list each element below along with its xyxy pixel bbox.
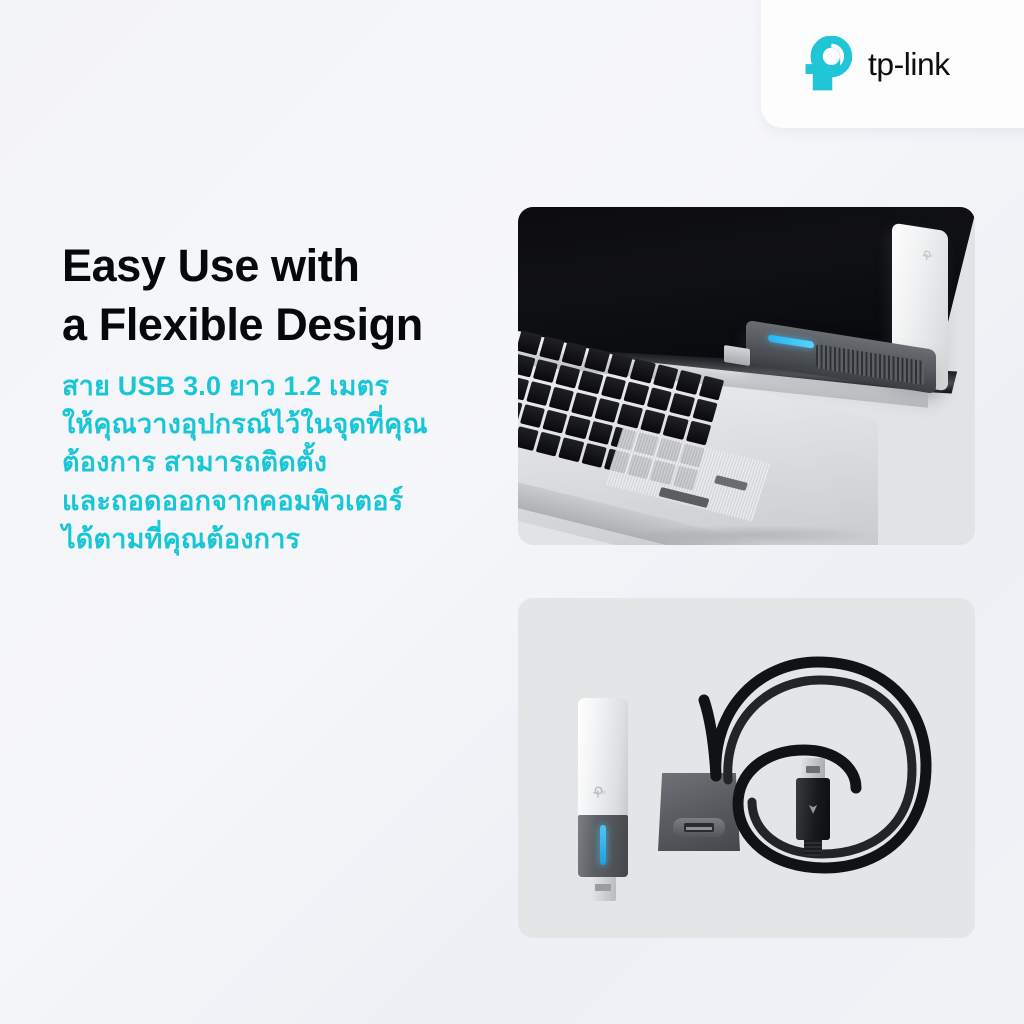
logo-row: tp-link [801, 36, 1004, 94]
svg-text:tp-link: tp-link [868, 46, 950, 82]
laptop-shadow [628, 525, 878, 545]
copy-block: Easy Use with a Flexible Design สาย USB … [62, 236, 502, 558]
page-title: Easy Use with a Flexible Design [62, 236, 502, 355]
tp-link-logo-icon: tp [593, 786, 613, 799]
usb-plug-housing [796, 778, 830, 840]
accessories-scene: tp [518, 598, 975, 938]
svg-text:tp: tp [602, 790, 606, 795]
body-line-4: และถอดออกจากคอมพิวเตอร์ [62, 482, 502, 520]
usb-wifi-adapter: tp [578, 698, 628, 901]
product-shot-laptop: tp [518, 207, 975, 545]
adapter-lower-shell [578, 815, 628, 877]
adapter-vent-grille [816, 344, 924, 385]
tp-link-logo-icon: tp [922, 249, 938, 263]
product-shot-accessories: tp [518, 598, 975, 938]
body-line-3: ต้องการ สามารถติดตั้ง [62, 443, 502, 481]
svg-text:tp: tp [930, 254, 933, 258]
body-line-2: ให้คุณวางอุปกรณ์ไว้ในจุดที่คุณ [62, 405, 502, 443]
headline-line-1: Easy Use with [62, 236, 502, 295]
usb-plug-metal-tip [801, 758, 825, 778]
adapter-blue-led [600, 825, 606, 865]
usb-wifi-adapter-plugged: tp [746, 335, 936, 379]
usb-a-male-plug [796, 758, 830, 856]
adapter-blue-led [768, 334, 814, 348]
usb-plug-strain-relief [804, 840, 822, 856]
adapter-upper-shell: tp [578, 698, 628, 816]
tp-link-logo-icon [801, 36, 859, 94]
adapter-usb-plug [590, 877, 616, 901]
body-copy: สาย USB 3.0 ยาว 1.2 เมตร ให้คุณวางอุปกรณ… [62, 367, 502, 559]
tp-link-wordmark: tp-link [868, 45, 1004, 85]
headline-line-2: a Flexible Design [62, 295, 502, 354]
body-line-1: สาย USB 3.0 ยาว 1.2 เมตร [62, 367, 502, 405]
body-line-5: ได้ตามที่คุณต้องการ [62, 520, 502, 558]
laptop-scene: tp [518, 207, 975, 545]
brand-logo-card: tp-link [761, 0, 1024, 128]
